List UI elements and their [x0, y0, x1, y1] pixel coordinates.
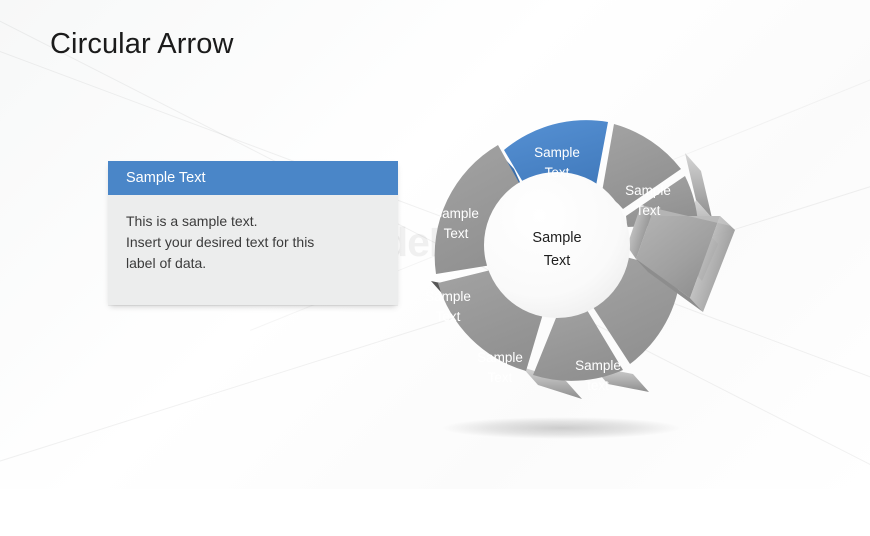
- callout-header-label: Sample Text: [126, 170, 206, 186]
- segment-bottom-label-line1: Sample: [477, 350, 523, 365]
- callout-body: This is a sample text. Insert your desir…: [108, 195, 398, 274]
- diagram-drop-shadow: [442, 417, 682, 439]
- center-label-line1: Sample: [532, 230, 581, 246]
- diagram-svg: Sample Text Sample Text Sample text Samp…: [390, 50, 790, 450]
- segment-lower-left-label-line1: Sample: [425, 289, 471, 304]
- segment-upper-left-label-line1: Sample: [433, 206, 479, 221]
- callout-box[interactable]: Sample Text This is a sample text. Inser…: [108, 161, 398, 305]
- segment-lower-left-label-line2: Text: [436, 309, 461, 324]
- callout-body-line: label of data.: [126, 253, 380, 274]
- segment-upper-right-label-line2: Text: [636, 203, 661, 218]
- slide-canvas: Circular Arrow SlideModel.com Sample Tex…: [0, 0, 870, 489]
- page-title: Circular Arrow: [50, 28, 234, 61]
- segment-upper-left-label-line2: Text: [444, 226, 469, 241]
- segment-top-label-line2: Text: [545, 165, 570, 180]
- segment-bottom-label-line2: Text: [488, 370, 513, 385]
- segment-lower-right-label-line1: Sample: [575, 358, 621, 373]
- callout-body-line: Insert your desired text for this: [126, 232, 380, 253]
- circular-arrow-diagram: Sample Text Sample Text Sample text Samp…: [390, 50, 790, 450]
- segment-upper-right-label-line1: Sample: [625, 183, 671, 198]
- segment-lower-right-label-line2: text: [587, 378, 609, 393]
- segment-top-label-line1: Sample: [534, 145, 580, 160]
- callout-header: Sample Text: [108, 161, 398, 195]
- callout-body-line: This is a sample text.: [126, 211, 380, 232]
- center-label-line2: Text: [544, 253, 571, 269]
